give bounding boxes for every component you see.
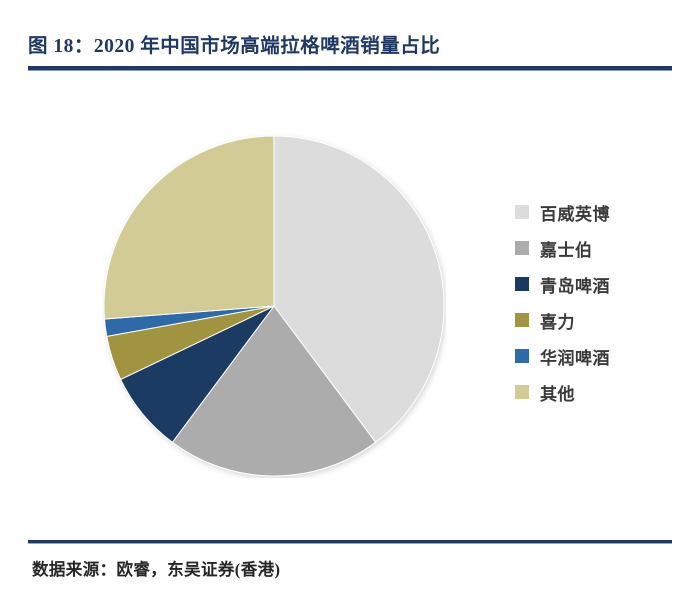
figure-title-row: 图 18：2020 年中国市场高端拉格啤酒销量占比 bbox=[28, 22, 672, 64]
legend-item-label: 其他 bbox=[540, 380, 575, 405]
legend-swatch-icon bbox=[515, 205, 529, 219]
pie-slice-group bbox=[104, 136, 444, 476]
page-title: 图 18：2020 年中国市场高端拉格啤酒销量占比 bbox=[28, 29, 440, 58]
source-note: 数据来源：欧睿，东吴证券(香港) bbox=[32, 556, 280, 580]
legend-swatch-icon bbox=[515, 241, 529, 255]
pie-slice[interactable] bbox=[104, 136, 274, 319]
legend-item[interactable]: 喜力 bbox=[515, 302, 665, 338]
title-divider bbox=[28, 66, 672, 71]
chart-plot-area: 百威英博嘉士伯青岛啤酒喜力华润啤酒其他 bbox=[28, 76, 672, 528]
pie-chart-svg bbox=[102, 134, 446, 478]
legend-swatch-icon bbox=[515, 349, 529, 363]
legend-item-label: 喜力 bbox=[540, 308, 575, 333]
legend-item[interactable]: 嘉士伯 bbox=[515, 230, 665, 266]
legend-swatch-icon bbox=[515, 313, 529, 327]
legend-item-label: 青岛啤酒 bbox=[540, 272, 610, 297]
legend-item[interactable]: 其他 bbox=[515, 374, 665, 410]
figure-container: 图 18：2020 年中国市场高端拉格啤酒销量占比 百威英博嘉士伯青岛啤酒喜力华… bbox=[0, 0, 700, 605]
pie-chart bbox=[102, 134, 446, 478]
legend-item-label: 华润啤酒 bbox=[540, 344, 610, 369]
legend-item-label: 嘉士伯 bbox=[540, 236, 593, 261]
legend-item[interactable]: 华润啤酒 bbox=[515, 338, 665, 374]
legend-swatch-icon bbox=[515, 277, 529, 291]
chart-legend: 百威英博嘉士伯青岛啤酒喜力华润啤酒其他 bbox=[515, 194, 665, 410]
legend-swatch-icon bbox=[515, 385, 529, 399]
legend-item[interactable]: 百威英博 bbox=[515, 194, 665, 230]
legend-item[interactable]: 青岛啤酒 bbox=[515, 266, 665, 302]
footer-divider bbox=[28, 540, 672, 544]
legend-item-label: 百威英博 bbox=[540, 200, 610, 225]
